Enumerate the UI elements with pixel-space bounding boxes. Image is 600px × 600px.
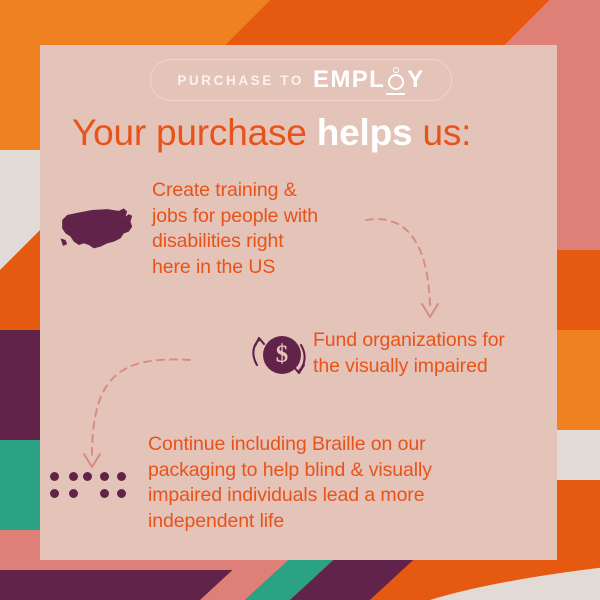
badge-brand-text: EMPL Y	[313, 66, 425, 94]
coin-circle: $	[263, 336, 301, 374]
braille-dots-icon	[50, 472, 132, 504]
dollar-coin-circulation-icon: $	[247, 331, 309, 381]
dollar-sign-icon: $	[263, 336, 301, 374]
braille-dot	[117, 489, 126, 498]
person-base-line-icon	[386, 93, 405, 95]
us-map-icon	[58, 205, 143, 255]
brand-text-part-1: EMPL	[313, 66, 385, 94]
page-title: Your purchase helps us:	[72, 112, 471, 154]
headline-part-2: us:	[412, 112, 471, 153]
item-text-training-jobs: Create training & jobs for people with d…	[152, 178, 318, 280]
braille-dot	[83, 472, 92, 481]
braille-dot	[117, 472, 126, 481]
headline-highlight: helps	[317, 112, 413, 153]
poster-canvas: PURCHASE TO EMPL Y Your purchase helps u…	[0, 0, 600, 600]
braille-dot	[100, 472, 109, 481]
purchase-to-employ-badge[interactable]: PURCHASE TO EMPL Y	[150, 59, 452, 101]
item-text-fund-organizations: Fund organizations for the visually impa…	[313, 328, 505, 379]
person-head-icon	[393, 67, 399, 73]
arrow-item1-to-item2-icon	[362, 200, 472, 335]
braille-dot	[69, 489, 78, 498]
person-body-icon	[388, 74, 404, 90]
braille-dot	[50, 489, 59, 498]
braille-dot	[50, 472, 59, 481]
badge-prefix-text: PURCHASE TO	[177, 73, 304, 88]
item-text-braille-packaging: Continue including Braille on our packag…	[148, 432, 432, 534]
braille-dot	[69, 472, 78, 481]
braille-dot	[100, 489, 109, 498]
brand-text-part-2: Y	[407, 66, 424, 94]
headline-part-1: Your purchase	[72, 112, 317, 153]
person-figure-o-icon	[385, 68, 407, 94]
